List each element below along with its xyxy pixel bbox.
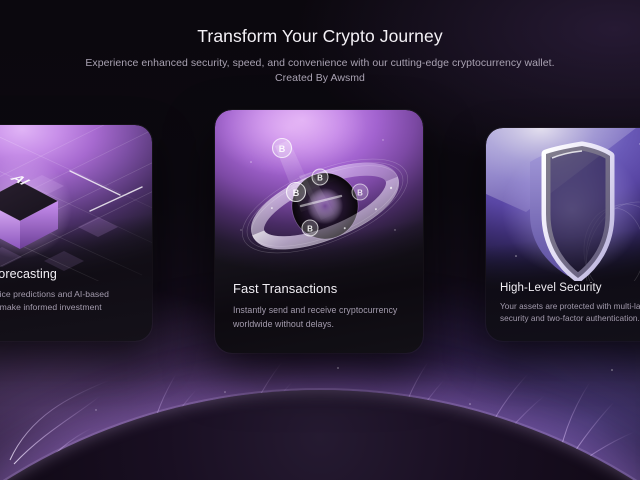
feature-card-fast-transactions[interactable]: B B B B [215,110,423,353]
svg-text:B: B [317,174,323,183]
page-subtitle-line1: Experience enhanced security, speed, and… [0,56,640,71]
card-text-block: Fast Transactions Instantly send and rec… [215,281,423,353]
shield-icon [486,128,640,281]
card-description: Your assets are protected with multi-lay… [500,301,640,325]
scene-root: Transform Your Crypto Journey Experience… [0,0,640,480]
card-title: High-Level Security [500,282,640,294]
ai-cube-icon: AI [0,125,152,281]
page-subtitle-credit: Created By Awsmd [0,71,640,86]
svg-text:B: B [279,144,286,154]
feature-card-high-level-security[interactable]: High-Level Security Your assets are prot… [486,128,640,341]
card-surface: AI Price Forecasting Receive price predi… [0,125,152,341]
card-title: Price Forecasting [0,267,134,281]
svg-text:B: B [307,225,313,234]
svg-text:B: B [293,188,300,198]
orbiting-coins-ring-icon: B B B B [215,110,423,285]
card-surface: B B B B [215,110,423,353]
feature-card-price-forecasting[interactable]: AI Price Forecasting Receive price predi… [0,125,152,341]
card-description: Instantly send and receive cryptocurrenc… [233,303,405,331]
page-header: Transform Your Crypto Journey Experience… [0,26,640,86]
page-title: Transform Your Crypto Journey [0,26,640,47]
card-surface: High-Level Security Your assets are prot… [486,128,640,341]
card-illustration-shield [486,128,640,281]
card-illustration-ai-cube: AI [0,125,152,281]
card-illustration-orbiting-coins: B B B B [215,110,423,285]
svg-text:B: B [357,189,363,198]
card-description: Receive price predictions and AI-based i… [0,288,134,327]
card-title: Fast Transactions [233,281,405,296]
page-subtitle: Experience enhanced security, speed, and… [0,56,640,86]
card-text-block: High-Level Security Your assets are prot… [486,282,640,341]
card-text-block: Price Forecasting Receive price predicti… [0,267,152,341]
